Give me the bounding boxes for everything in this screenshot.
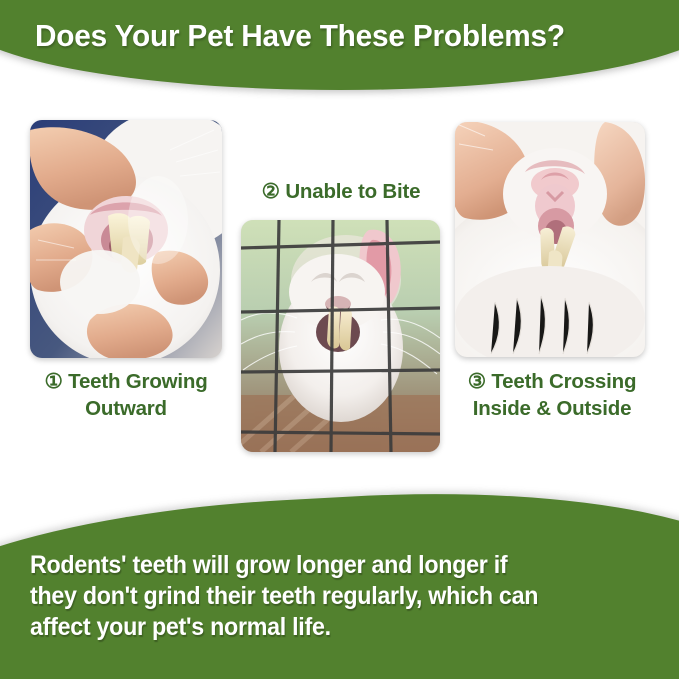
problem-image-3: [455, 122, 645, 357]
problem-caption-3: ③ Teeth Crossing Inside & Outside: [438, 368, 666, 422]
footer-message-line2: they don't grind their teeth regularly, …: [30, 581, 588, 612]
promo-graphic: Does Your Pet Have These Problems?: [0, 0, 679, 679]
rabbit-teeth-outward-illustration: [30, 120, 222, 358]
footer-message: Rodents' teeth will grow longer and long…: [30, 550, 588, 643]
footer-message-line3: affect your pet's normal life.: [30, 612, 588, 643]
footer-banner: Rodents' teeth will grow longer and long…: [0, 470, 679, 679]
problem-image-2: [241, 220, 440, 452]
footer-message-line1: Rodents' teeth will grow longer and long…: [30, 550, 588, 581]
problem-caption-2: ② Unable to Bite: [230, 178, 452, 205]
problem-image-1: [30, 120, 222, 358]
problem-caption-1-line1: ① Teeth Growing: [12, 368, 240, 395]
rabbit-in-cage-illustration: [241, 220, 440, 452]
rabbit-crossed-teeth-illustration: [455, 122, 645, 357]
problem-caption-1-line2: Outward: [12, 395, 240, 422]
problem-caption-2-line1: ② Unable to Bite: [230, 178, 452, 205]
problem-caption-1: ① Teeth Growing Outward: [12, 368, 240, 422]
problem-caption-3-line2: Inside & Outside: [438, 395, 666, 422]
problem-caption-3-line1: ③ Teeth Crossing: [438, 368, 666, 395]
